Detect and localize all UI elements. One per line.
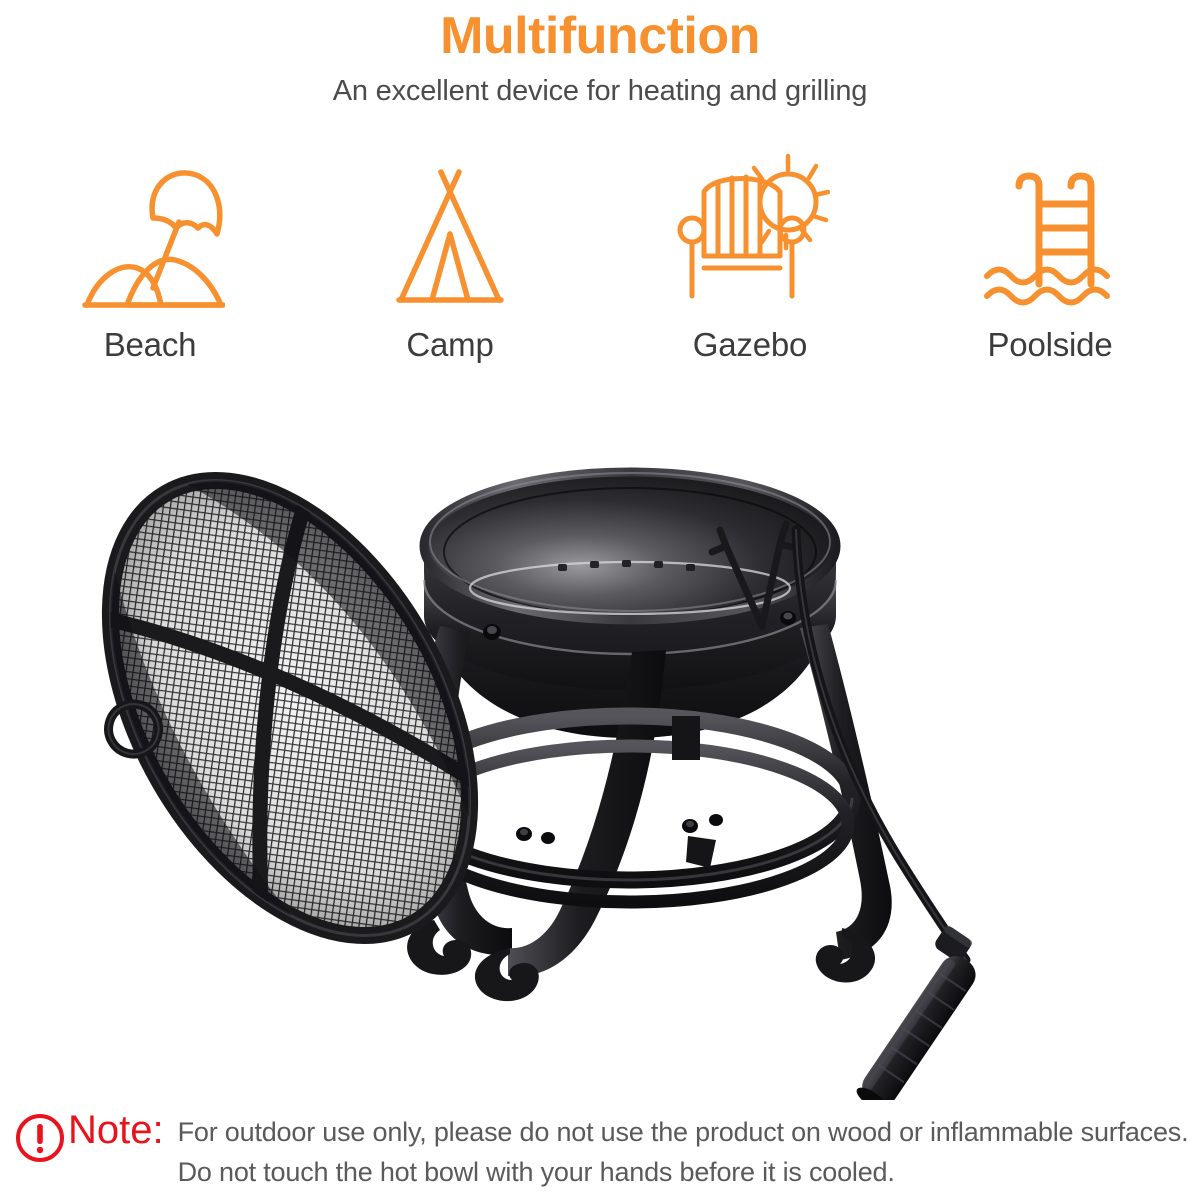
poker-grip xyxy=(853,950,982,1100)
feature-label-camp: Camp xyxy=(406,326,493,364)
note-text: For outdoor use only, please do not use … xyxy=(178,1108,1200,1192)
teepee-tent-icon xyxy=(375,150,525,310)
deck-chair-sun-icon xyxy=(670,150,830,310)
feature-icon-row: Beach Camp xyxy=(0,150,1200,364)
feature-label-beach: Beach xyxy=(104,326,197,364)
page-title: Multifunction xyxy=(0,0,1200,65)
product-image xyxy=(0,420,1200,1100)
note-label: Note: xyxy=(68,1108,164,1152)
fire-pit-illustration xyxy=(0,420,1200,1100)
feature-item-camp: Camp xyxy=(310,150,590,364)
pool-ladder-icon xyxy=(975,150,1125,310)
feature-label-gazebo: Gazebo xyxy=(693,326,807,364)
beach-umbrella-icon xyxy=(75,150,225,310)
feature-item-gazebo: Gazebo xyxy=(610,150,890,364)
feature-item-beach: Beach xyxy=(10,150,290,364)
header: Multifunction An excellent device for he… xyxy=(0,0,1200,108)
fire-bowl-assembly xyxy=(404,472,892,1001)
note-block: Note: For outdoor use only, please do no… xyxy=(0,1108,1200,1192)
feature-label-poolside: Poolside xyxy=(988,326,1113,364)
exclamation-circle-icon xyxy=(14,1112,66,1169)
feature-item-poolside: Poolside xyxy=(910,150,1190,364)
page-subtitle: An excellent device for heating and gril… xyxy=(0,65,1200,108)
